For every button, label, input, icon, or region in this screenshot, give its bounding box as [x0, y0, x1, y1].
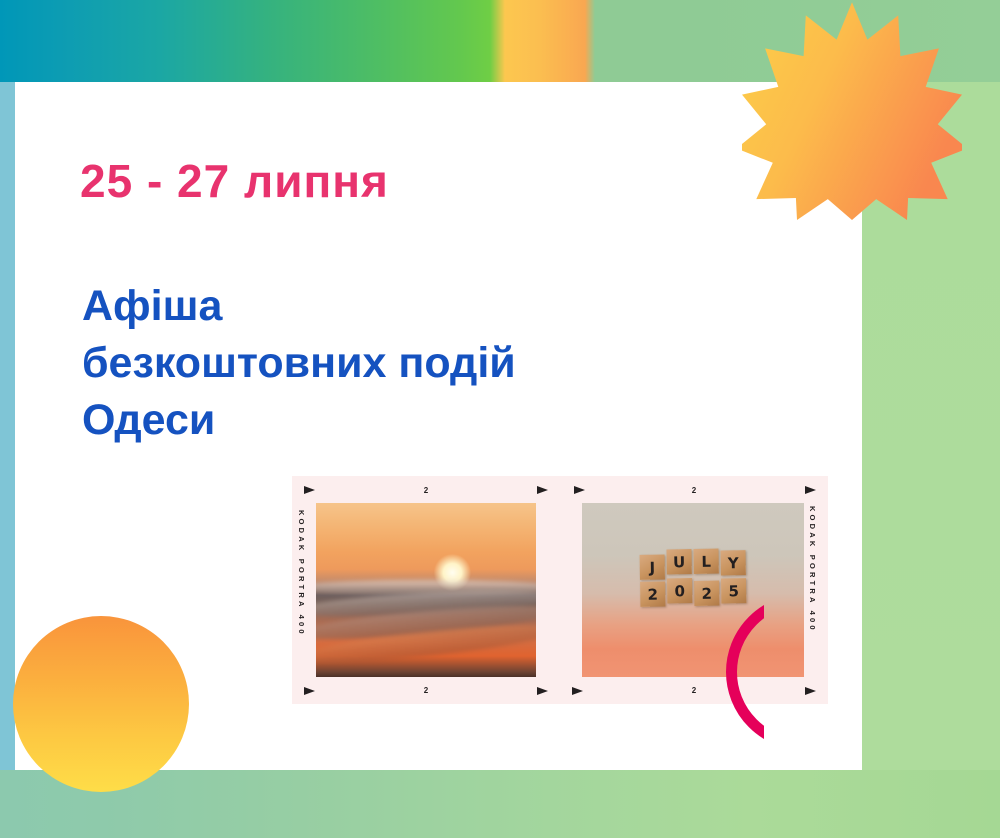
wooden-block: L: [693, 548, 718, 573]
wooden-block: U: [666, 549, 691, 574]
background-bottom-gradient-band: [0, 770, 1000, 838]
film-frame-number-bottom: 2: [560, 686, 828, 695]
page-title-line-3: Одеси: [82, 392, 682, 449]
wooden-block: 2: [640, 581, 665, 606]
poster-canvas: 25 - 27 липня Афіша безкоштовних подій О…: [0, 0, 1000, 838]
sunburst-icon: [742, 0, 962, 220]
film-brand-label: KODAK PORTRA 400: [808, 506, 817, 633]
film-frame-number-top: 2: [560, 486, 828, 495]
wooden-blocks-row-top: J U L Y: [640, 553, 746, 580]
film-frame-1: 2 2 KODAK PORTRA 400: [292, 476, 560, 704]
wooden-block: J: [640, 554, 665, 579]
wooden-block: 0: [667, 578, 692, 603]
background-left-blue-bar: [0, 82, 15, 770]
event-date-range: 25 - 27 липня: [80, 158, 389, 204]
film-frame-number-top: 2: [292, 486, 560, 495]
photo-july-2025-blocks: J U L Y 2 0 2 5: [582, 503, 804, 677]
film-frame-number-bottom: 2: [292, 686, 560, 695]
wooden-blocks-group: J U L Y 2 0 2 5: [640, 553, 747, 607]
sun-circle-decoration: [13, 616, 189, 792]
film-brand-label: KODAK PORTRA 400: [297, 510, 306, 660]
wooden-block: Y: [720, 550, 745, 575]
wooden-block: 2: [694, 580, 719, 605]
wooden-block: 5: [721, 578, 746, 603]
wooden-blocks-row-bottom: 2 0 2 5: [640, 580, 746, 607]
photo-ocean-sunset: [316, 503, 536, 677]
film-frame-2: 2 2 KODAK PORTRA 400 J U L Y 2: [560, 476, 828, 704]
page-title-line-2: безкоштовних подій: [82, 335, 682, 392]
page-title-line-1: Афіша: [82, 278, 682, 335]
page-title: Афіша безкоштовних подій Одеси: [82, 278, 682, 450]
